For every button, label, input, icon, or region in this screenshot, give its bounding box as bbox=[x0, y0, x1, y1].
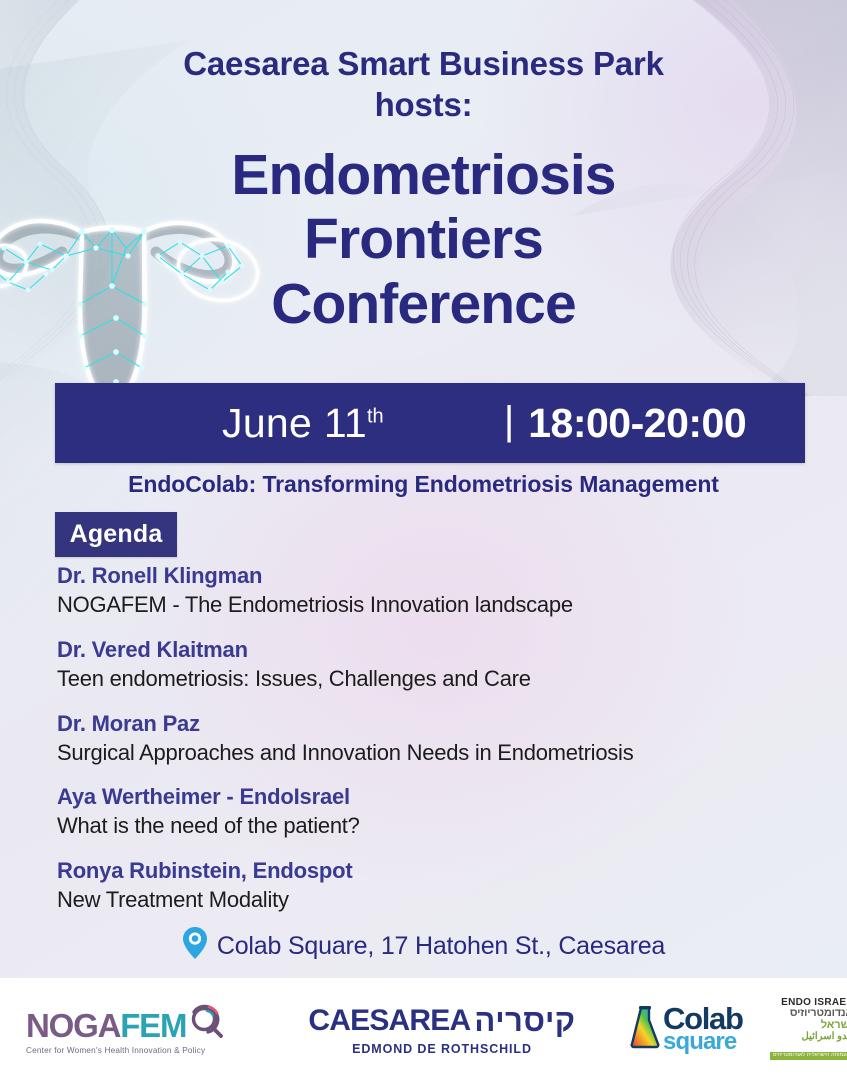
list-item: Dr. Moran Paz Surgical Approaches and In… bbox=[57, 710, 817, 768]
page-title: Endometriosis Frontiers Conference bbox=[0, 143, 847, 336]
agenda-badge: Agenda bbox=[55, 512, 177, 557]
footer-logo-strip: NOGAFEM Center for Women's Health Innova… bbox=[0, 978, 847, 1080]
nogafem-word-part-1: NOGA bbox=[26, 1009, 120, 1042]
map-pin-icon bbox=[182, 926, 208, 965]
location-text: Colab Square, 17 Hatohen St., Caesarea bbox=[217, 932, 665, 961]
logo-endo-israel: ENDO ISRAEL אנדומטריוזיס ישראל اندو اسرا… bbox=[770, 997, 847, 1062]
agenda-talk: New Treatment Modality bbox=[57, 886, 817, 915]
date-time-bar: June 11th | 18:00-20:00 bbox=[55, 383, 805, 463]
event-date: June 11th bbox=[108, 400, 498, 447]
magnifying-glass-icon bbox=[188, 1004, 224, 1043]
colab-square-wordmark: Colab square bbox=[663, 1005, 743, 1054]
endo-israel-bar-text: העמותה הישראלית לאנדומטריוזיס bbox=[770, 1052, 847, 1060]
event-poster: Caesarea Smart Business Park hosts: Endo… bbox=[0, 0, 847, 1080]
list-item: Dr. Vered Klaitman Teen endometriosis: I… bbox=[57, 636, 817, 694]
title-line-1: Endometriosis bbox=[0, 143, 847, 207]
date-time-separator: | bbox=[504, 399, 514, 444]
endo-israel-wordmark: ENDO ISRAEL אנדומטריוזיס ישראל اندو اسرا… bbox=[770, 998, 847, 1061]
agenda-talk: NOGAFEM - The Endometriosis Innovation l… bbox=[57, 591, 817, 620]
flask-icon bbox=[630, 1005, 660, 1054]
list-item: Aya Wertheimer - EndoIsrael What is the … bbox=[57, 783, 817, 841]
host-line-1: Caesarea Smart Business Park bbox=[0, 44, 847, 85]
agenda-list: Dr. Ronell Klingman NOGAFEM - The Endome… bbox=[57, 562, 817, 915]
event-date-ordinal: th bbox=[367, 405, 384, 427]
location-line: Colab Square, 17 Hatohen St., Caesarea bbox=[0, 928, 847, 965]
event-subtitle: EndoColab: Transforming Endometriosis Ma… bbox=[0, 471, 847, 498]
nogafem-wordmark: NOGAFEM bbox=[26, 1003, 234, 1042]
agenda-speaker: Aya Wertheimer - EndoIsrael bbox=[57, 783, 817, 811]
agenda-speaker: Ronya Rubinstein, Endospot bbox=[57, 857, 817, 885]
agenda-talk: What is the need of the patient? bbox=[57, 812, 817, 841]
caesarea-latin-text: CAESAREA bbox=[308, 1004, 470, 1038]
event-date-text: June 11 bbox=[222, 400, 367, 446]
agenda-speaker: Dr. Ronell Klingman bbox=[57, 562, 817, 590]
logo-caesarea: CAESAREA קיסריה EDMOND DE ROTHSCHILD bbox=[298, 1003, 586, 1056]
event-time: 18:00-20:00 bbox=[528, 400, 746, 447]
poster-body: Caesarea Smart Business Park hosts: Endo… bbox=[0, 0, 847, 978]
endo-israel-line-4: اندو اسرائيل bbox=[770, 1032, 847, 1043]
caesarea-wordmark: CAESAREA קיסריה bbox=[298, 1003, 586, 1039]
list-item: Dr. Ronell Klingman NOGAFEM - The Endome… bbox=[57, 562, 817, 620]
agenda-talk: Surgical Approaches and Innovation Needs… bbox=[57, 739, 817, 768]
title-line-3: Conference bbox=[0, 272, 847, 336]
agenda-speaker: Dr. Moran Paz bbox=[57, 710, 817, 738]
agenda-speaker: Dr. Vered Klaitman bbox=[57, 636, 817, 664]
caesarea-hebrew-text: קיסריה bbox=[474, 1003, 575, 1039]
nogafem-word-part-2: FEM bbox=[120, 1009, 186, 1042]
list-item: Ronya Rubinstein, Endospot New Treatment… bbox=[57, 857, 817, 915]
host-line: Caesarea Smart Business Park hosts: bbox=[0, 44, 847, 126]
agenda-talk: Teen endometriosis: Issues, Challenges a… bbox=[57, 665, 817, 694]
host-line-2: hosts: bbox=[0, 85, 847, 126]
logo-colab-square: Colab square bbox=[630, 1005, 746, 1054]
caesarea-subtitle: EDMOND DE ROTHSCHILD bbox=[298, 1042, 586, 1056]
title-line-2: Frontiers bbox=[0, 207, 847, 271]
logo-nogafem: NOGAFEM Center for Women's Health Innova… bbox=[26, 1003, 234, 1055]
colab-line-2: square bbox=[663, 1031, 743, 1053]
nogafem-tagline: Center for Women's Health Innovation & P… bbox=[26, 1046, 234, 1055]
